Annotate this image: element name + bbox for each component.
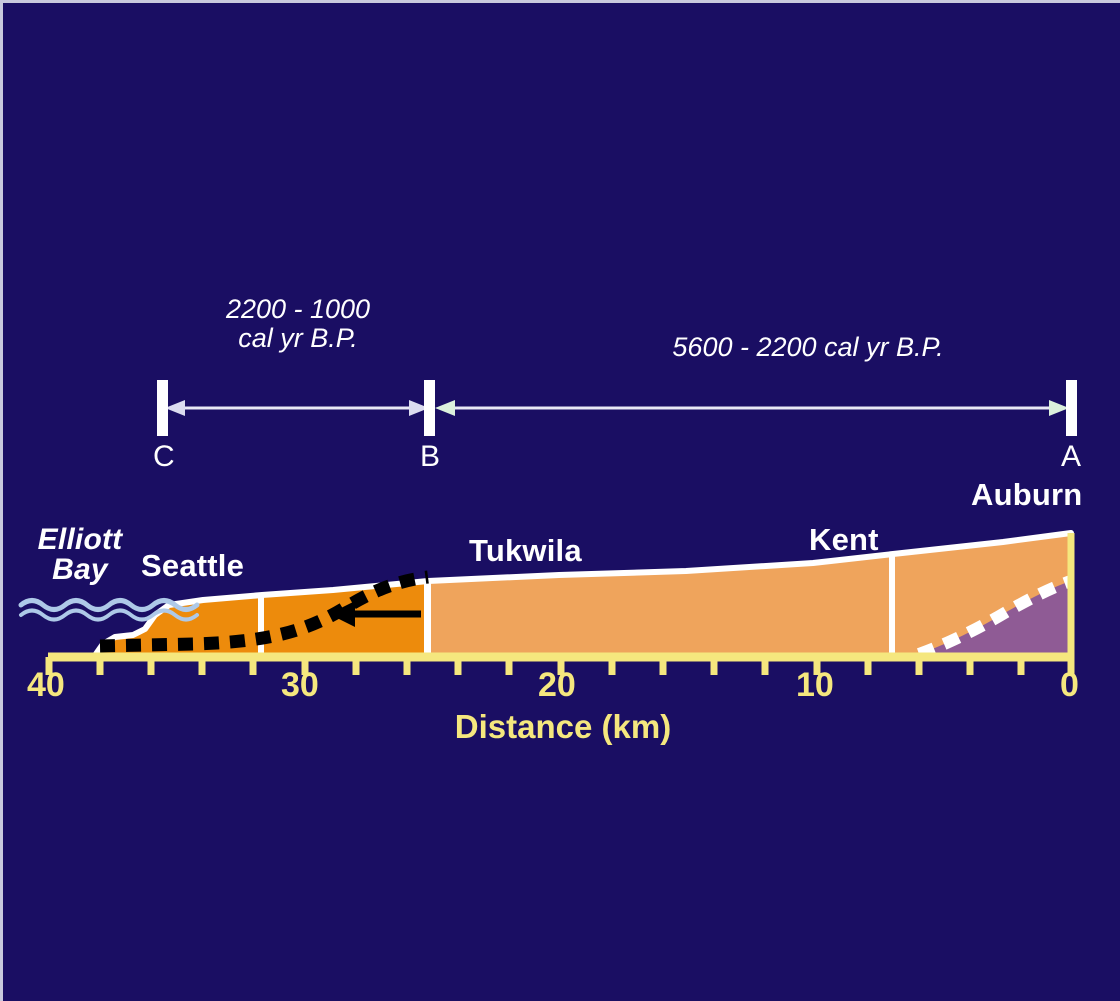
period-span-b-a xyxy=(435,400,1069,416)
axis-ticks xyxy=(49,657,1071,675)
divider-tukwila xyxy=(424,579,431,654)
divider-kent xyxy=(889,552,895,654)
figure-panel: 2200 - 1000 cal yr B.P. 5600 - 2200 cal … xyxy=(0,0,1120,1001)
cross-section-diagram xyxy=(3,3,1120,1001)
marker-bar-a xyxy=(1066,380,1077,436)
axis-title-distance: Distance (km) xyxy=(3,708,1120,746)
marker-bar-c xyxy=(157,380,168,436)
arrowhead-left-b xyxy=(435,400,455,416)
marker-bar-b xyxy=(424,380,435,436)
period-span-c-b xyxy=(165,400,429,416)
